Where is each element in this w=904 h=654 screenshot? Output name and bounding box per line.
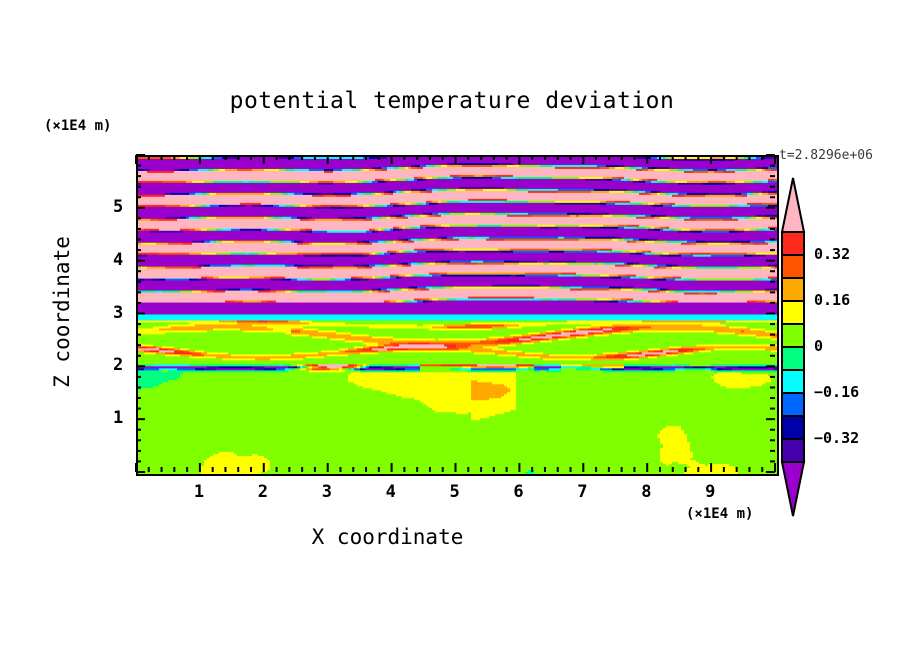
colorbar-tick-label: 0.32 [814, 245, 850, 263]
x-tick-label: 3 [322, 482, 332, 502]
colorbar-band [782, 324, 804, 347]
x-tick-label: 4 [386, 482, 396, 502]
x-axis-title: X coordinate [0, 525, 775, 549]
colorbar-tick-label: −0.32 [814, 429, 859, 447]
y-tick-label: 2 [113, 355, 123, 375]
colorbar-over-cap [782, 178, 804, 232]
x-axis-unit-label: (×1E4 m) [686, 506, 753, 522]
x-tick-label: 7 [577, 482, 587, 502]
y-axis-title: Z coordinate [50, 202, 74, 422]
figure: potential temperature deviation (×1E4 m)… [0, 0, 904, 654]
y-axis-unit-label: (×1E4 m) [44, 118, 111, 134]
colorbar-band [782, 301, 804, 324]
y-tick-label: 4 [113, 250, 123, 270]
colorbar-band [782, 232, 804, 255]
y-tick-label: 3 [113, 303, 123, 323]
colorbar-tick-label: 0.16 [814, 291, 850, 309]
timestamp-label: t=2.8296e+06 [779, 148, 873, 163]
y-tick-label: 5 [113, 197, 123, 217]
contour-plot-area [136, 155, 779, 476]
y-tick-label: 1 [113, 408, 123, 428]
colorbar-band [782, 439, 804, 462]
colorbar-band [782, 347, 804, 370]
chart-title: potential temperature deviation [0, 88, 904, 114]
contour-field [138, 157, 777, 474]
x-tick-label: 9 [705, 482, 715, 502]
colorbar-tick-label: 0 [814, 337, 823, 355]
colorbar-under-cap [782, 462, 804, 516]
x-tick-label: 1 [194, 482, 204, 502]
colorbar-band [782, 416, 804, 439]
colorbar-band [782, 393, 804, 416]
x-tick-label: 2 [258, 482, 268, 502]
x-tick-label: 8 [641, 482, 651, 502]
x-tick-label: 6 [513, 482, 523, 502]
colorbar-band [782, 370, 804, 393]
colorbar-band [782, 255, 804, 278]
colorbar-band [782, 278, 804, 301]
x-tick-label: 5 [450, 482, 460, 502]
colorbar-tick-label: −0.16 [814, 383, 859, 401]
